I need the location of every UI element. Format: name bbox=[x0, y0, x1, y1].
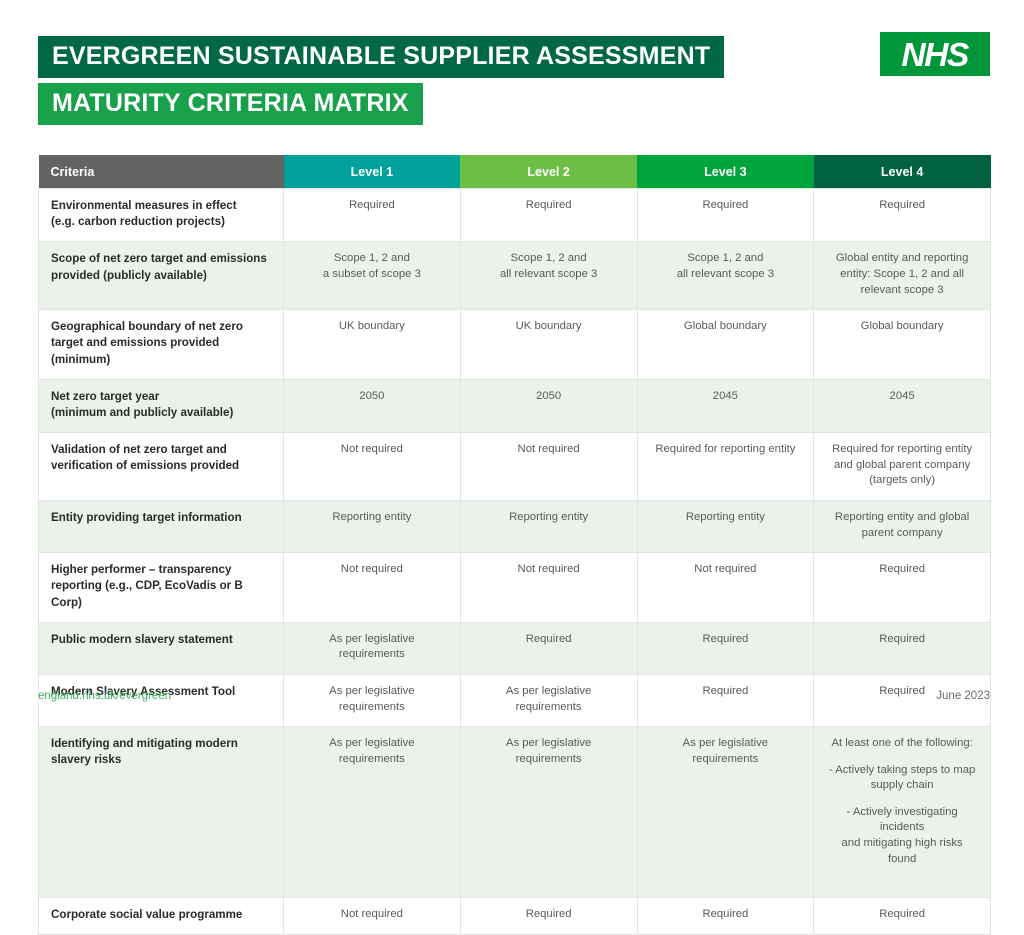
table-row: Validation of net zero target andverific… bbox=[39, 433, 991, 501]
maturity-criteria-matrix: Criteria Level 1 Level 2 Level 3 Level 4… bbox=[38, 155, 990, 935]
level-4-cell: Required for reporting entityand global … bbox=[814, 433, 991, 501]
level-1-cell: Not required bbox=[284, 553, 461, 623]
page-header: EVERGREEN SUSTAINABLE SUPPLIER ASSESSMEN… bbox=[0, 0, 1024, 150]
criteria-cell: Corporate social value programme bbox=[39, 898, 284, 935]
level-1-cell: Not required bbox=[284, 898, 461, 935]
level-4-cell: 2045 bbox=[814, 379, 991, 432]
table-row: Public modern slavery statementAs per le… bbox=[39, 622, 991, 674]
level-1-cell: Scope 1, 2 anda subset of scope 3 bbox=[284, 242, 461, 310]
level-4-cell: Required bbox=[814, 189, 991, 242]
level-1-cell: Reporting entity bbox=[284, 501, 461, 553]
level-3-cell: Global boundary bbox=[637, 310, 814, 380]
table-row: Higher performer – transparencyreporting… bbox=[39, 553, 991, 623]
level-3-cell: Required for reporting entity bbox=[637, 433, 814, 501]
matrix-table: Criteria Level 1 Level 2 Level 3 Level 4… bbox=[38, 155, 991, 935]
level-4-cell: Required bbox=[814, 553, 991, 623]
criteria-cell: Higher performer – transparencyreporting… bbox=[39, 553, 284, 623]
level-4-cell: Global entity and reportingentity: Scope… bbox=[814, 242, 991, 310]
level-2-cell: Not required bbox=[460, 433, 637, 501]
level-2-cell: UK boundary bbox=[460, 310, 637, 380]
page-title-line-2: MATURITY CRITERIA MATRIX bbox=[38, 83, 423, 125]
criteria-cell: Scope of net zero target and emissionspr… bbox=[39, 242, 284, 310]
level-1-cell: 2050 bbox=[284, 379, 461, 432]
level-4-cell: Required bbox=[814, 622, 991, 674]
level-4-cell: Required bbox=[814, 898, 991, 935]
level-2-cell: Not required bbox=[460, 553, 637, 623]
criteria-cell: Identifying and mitigating modernslavery… bbox=[39, 727, 284, 898]
nhs-logo-text: NHS bbox=[902, 38, 968, 71]
column-header-level-2: Level 2 bbox=[460, 155, 637, 189]
criteria-cell: Geographical boundary of net zerotarget … bbox=[39, 310, 284, 380]
level-3-cell: Required bbox=[637, 189, 814, 242]
level-4-cell: At least one of the following:- Actively… bbox=[814, 727, 991, 898]
level-2-cell: Scope 1, 2 andall relevant scope 3 bbox=[460, 242, 637, 310]
level-1-cell: Not required bbox=[284, 433, 461, 501]
column-header-level-4: Level 4 bbox=[814, 155, 991, 189]
level-2-cell: Required bbox=[460, 898, 637, 935]
level-3-cell: Required bbox=[637, 622, 814, 674]
level-1-cell: As per legislative requirements bbox=[284, 622, 461, 674]
level-3-cell: Not required bbox=[637, 553, 814, 623]
table-row: Corporate social value programmeNot requ… bbox=[39, 898, 991, 935]
table-row: Entity providing target informationRepor… bbox=[39, 501, 991, 553]
level-2-cell: Required bbox=[460, 189, 637, 242]
level-1-cell: UK boundary bbox=[284, 310, 461, 380]
column-header-criteria: Criteria bbox=[39, 155, 284, 189]
level-3-cell: Required bbox=[637, 898, 814, 935]
level-3-cell: 2045 bbox=[637, 379, 814, 432]
level-2-cell: As per legislative requirements bbox=[460, 727, 637, 898]
criteria-cell: Validation of net zero target andverific… bbox=[39, 433, 284, 501]
column-header-level-1: Level 1 bbox=[284, 155, 461, 189]
matrix-table-head: Criteria Level 1 Level 2 Level 3 Level 4 bbox=[39, 155, 991, 189]
table-row: Environmental measures in effect(e.g. ca… bbox=[39, 189, 991, 242]
level-2-cell: 2050 bbox=[460, 379, 637, 432]
level-1-cell: As per legislative requirements bbox=[284, 727, 461, 898]
matrix-header-row: Criteria Level 1 Level 2 Level 3 Level 4 bbox=[39, 155, 991, 189]
criteria-cell: Entity providing target information bbox=[39, 501, 284, 553]
criteria-cell: Net zero target year(minimum and publicl… bbox=[39, 379, 284, 432]
column-header-level-3: Level 3 bbox=[637, 155, 814, 189]
level-4-cell: Global boundary bbox=[814, 310, 991, 380]
level-3-cell: Reporting entity bbox=[637, 501, 814, 553]
level-3-cell: As per legislative requirements bbox=[637, 727, 814, 898]
page-footer: england.nhs.uk/evergreen June 2023 bbox=[38, 690, 990, 710]
table-row: Net zero target year(minimum and publicl… bbox=[39, 379, 991, 432]
nhs-logo: NHS bbox=[880, 32, 990, 76]
table-row: Scope of net zero target and emissionspr… bbox=[39, 242, 991, 310]
publication-date: June 2023 bbox=[936, 690, 990, 702]
table-row: Geographical boundary of net zerotarget … bbox=[39, 310, 991, 380]
matrix-table-body: Environmental measures in effect(e.g. ca… bbox=[39, 189, 991, 935]
criteria-cell: Environmental measures in effect(e.g. ca… bbox=[39, 189, 284, 242]
level-4-cell: Reporting entity and globalparent compan… bbox=[814, 501, 991, 553]
level-2-cell: Reporting entity bbox=[460, 501, 637, 553]
evergreen-website-link[interactable]: england.nhs.uk/evergreen bbox=[38, 690, 171, 702]
table-row: Identifying and mitigating modernslavery… bbox=[39, 727, 991, 898]
level-2-cell: Required bbox=[460, 622, 637, 674]
level-3-cell: Scope 1, 2 andall relevant scope 3 bbox=[637, 242, 814, 310]
level-1-cell: Required bbox=[284, 189, 461, 242]
criteria-cell: Public modern slavery statement bbox=[39, 622, 284, 674]
page-title-line-1: EVERGREEN SUSTAINABLE SUPPLIER ASSESSMEN… bbox=[38, 36, 724, 78]
